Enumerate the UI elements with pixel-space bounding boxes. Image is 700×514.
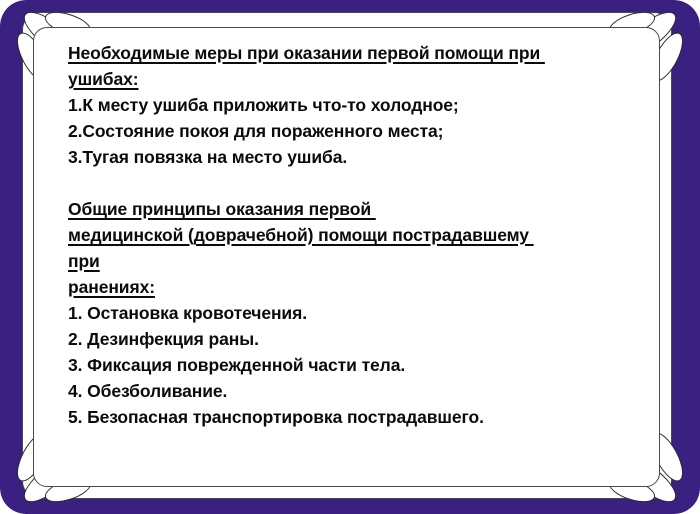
section-2-heading-line-2: медицинской (доврачебной) помощи пострад… bbox=[68, 222, 648, 248]
section-2-heading-line-1: Общие принципы оказания первой bbox=[68, 196, 648, 222]
section-1-item-3: 3.Тугая повязка на место ушиба. bbox=[68, 144, 648, 170]
section-2-item-5: 5. Безопасная транспортировка пострадавш… bbox=[68, 404, 648, 430]
section-2-item-1: 1. Остановка кровотечения. bbox=[68, 300, 648, 326]
section-1-item-1: 1.К месту ушиба приложить что-то холодно… bbox=[68, 92, 648, 118]
section-1-heading-line-2: ушибах: bbox=[68, 66, 648, 92]
section-2-item-3: 3. Фиксация поврежденной части тела. bbox=[68, 352, 648, 378]
section-2-item-4: 4. Обезболивание. bbox=[68, 378, 648, 404]
section-1-heading-line-1: Необходимые меры при оказании первой пом… bbox=[68, 40, 648, 66]
section-1-item-2: 2.Состояние покоя для пораженного места; bbox=[68, 118, 648, 144]
slide-canvas: Необходимые меры при оказании первой пом… bbox=[0, 0, 700, 514]
section-2-item-2: 2. Дезинфекция раны. bbox=[68, 326, 648, 352]
section-2-heading-line-4: ранениях: bbox=[68, 274, 648, 300]
slide-text-content: Необходимые меры при оказании первой пом… bbox=[68, 40, 648, 430]
section-gap bbox=[68, 170, 648, 196]
section-2-heading-line-3: при bbox=[68, 248, 648, 274]
